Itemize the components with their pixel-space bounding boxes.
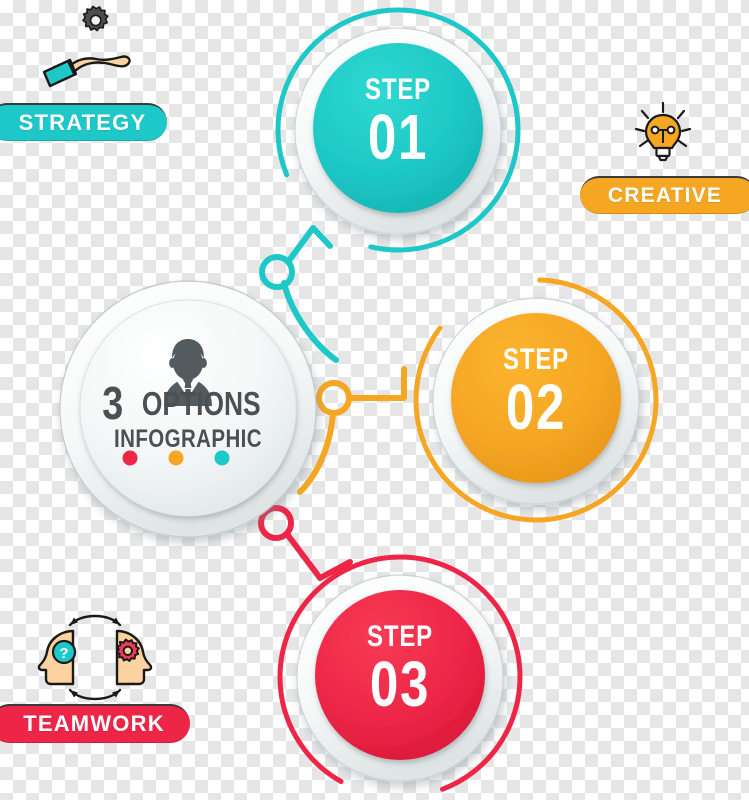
step-01-disc [313,43,483,213]
label-badge-teamwork[interactable]: TEAMWORK [0,704,190,743]
infographic-canvas: ? STEP 01 STEP 02 STEP [0,0,749,800]
node-step-01 [262,257,292,287]
dot-orange [169,451,184,466]
dot-red [123,451,138,466]
label-badge-creative[interactable]: CREATIVE [580,176,749,214]
center-disc [80,300,296,516]
node-step-03 [261,508,291,538]
step-02-disc [451,313,621,483]
dot-teal [215,451,230,466]
step-02-group[interactable] [416,280,656,520]
step-03-disc [315,590,485,760]
svg-text:?: ? [59,645,68,662]
connector-step-03 [261,508,350,578]
center-circle-group[interactable] [60,281,316,538]
label-badge-strategy[interactable]: STRATEGY [0,103,167,141]
hand-gear-icon [44,6,130,86]
step-01-group[interactable] [278,10,518,250]
two-heads-exchange-icon: ? [39,616,151,699]
lightbulb-icon [636,103,690,160]
step-03-group[interactable] [280,557,520,797]
node-step-02 [319,383,349,413]
connector-step-02 [300,369,404,492]
